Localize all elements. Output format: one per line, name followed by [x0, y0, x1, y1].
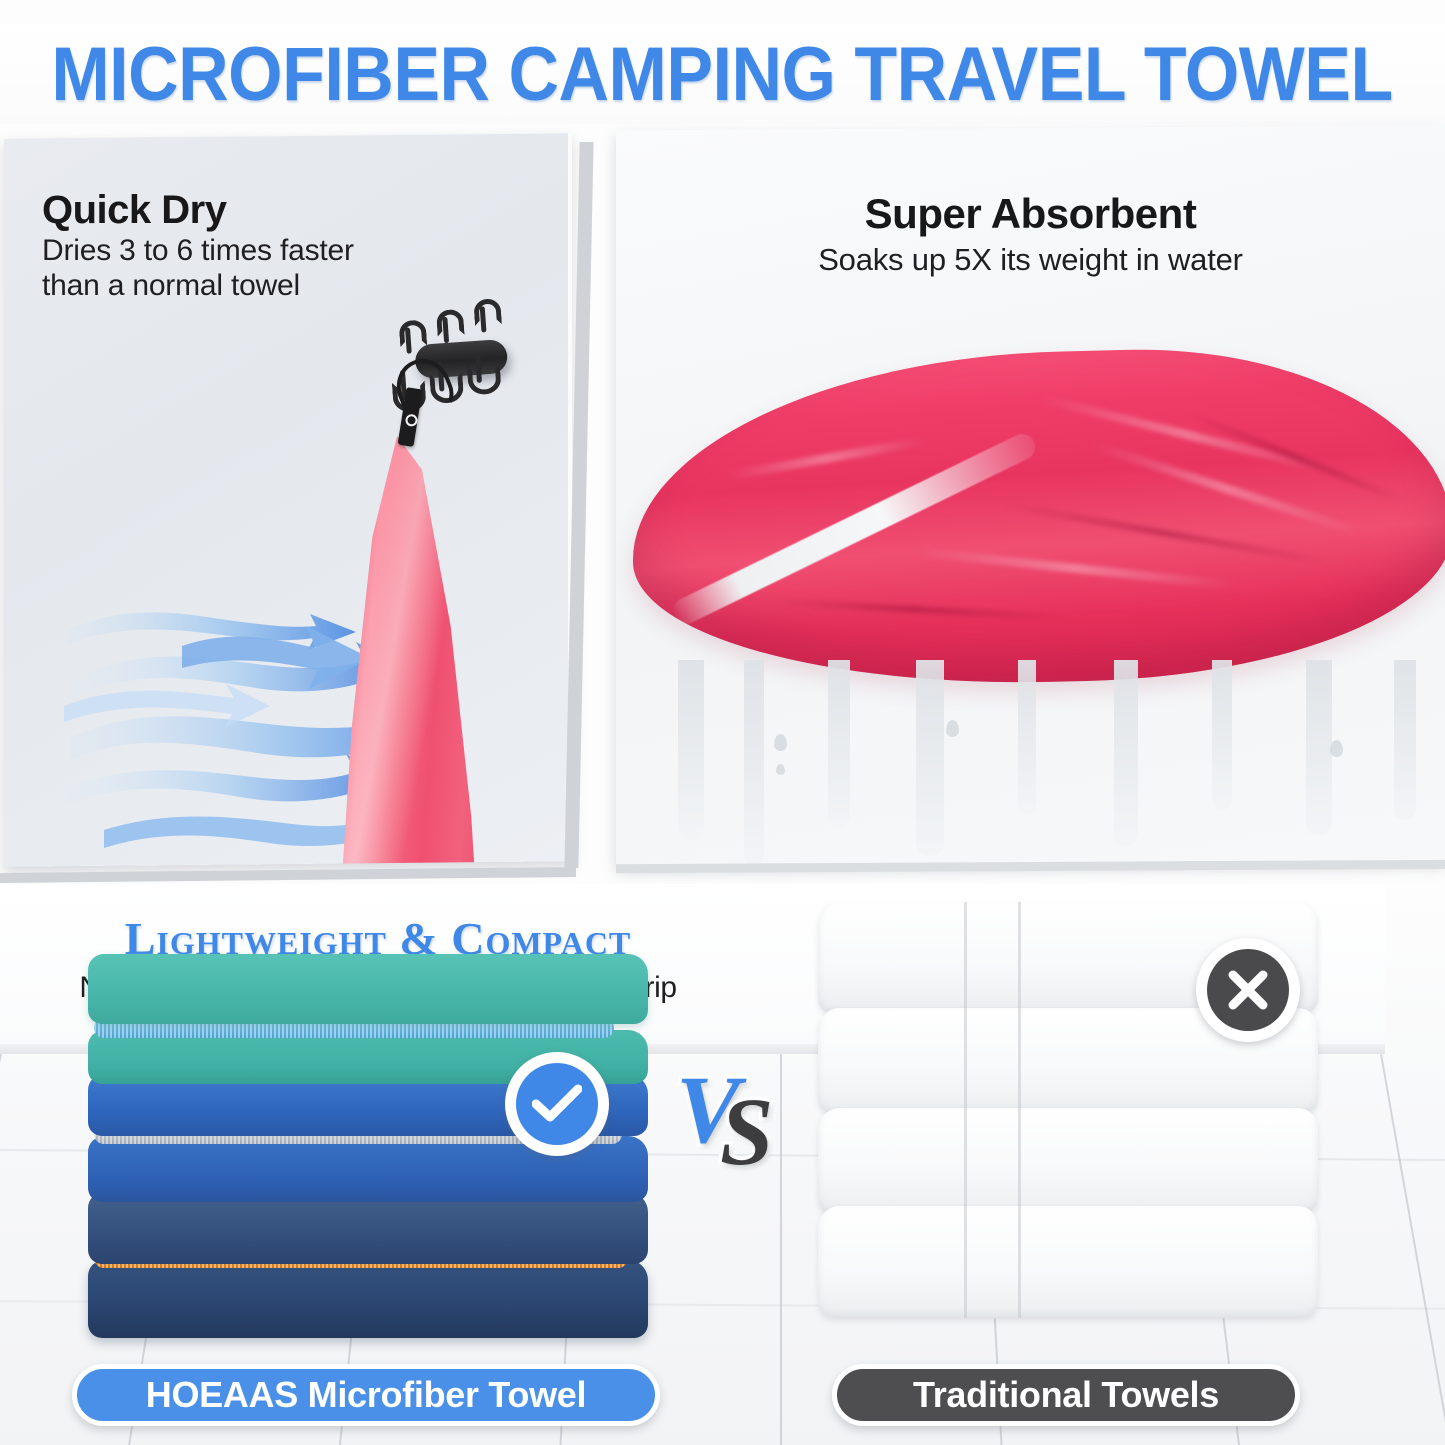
water-drip-icon: [616, 334, 1445, 864]
panel-left-base: [0, 867, 576, 883]
hoeaas-label-text: HOEAAS Microfiber Towel: [146, 1374, 586, 1416]
check-icon: [505, 1052, 609, 1156]
wall-hook-rack-icon: [372, 298, 551, 440]
hoeaas-label-pill: HOEAAS Microfiber Towel: [72, 1364, 660, 1426]
page-title-bar: MICROFIBER CAMPING TRAVEL TOWEL: [0, 24, 1445, 124]
traditional-label-text: Traditional Towels: [913, 1374, 1219, 1416]
quick-dry-line-1: Dries 3 to 6 times faster: [42, 233, 354, 268]
quick-dry-heading: Quick Dry: [42, 188, 354, 233]
cross-glyph: [1226, 968, 1270, 1012]
quick-dry-line-2: than a normal towel: [42, 268, 354, 303]
page-title: MICROFIBER CAMPING TRAVEL TOWEL: [52, 31, 1393, 118]
infographic-canvas: MICROFIBER CAMPING TRAVEL TOWEL: [0, 0, 1445, 1445]
white-towel: [818, 1206, 1318, 1318]
super-absorbent-text-block: Super Absorbent Soaks up 5X its weight i…: [616, 190, 1445, 279]
super-absorbent-subheading: Soaks up 5X its weight in water: [616, 242, 1445, 279]
dark-navy-towel: [88, 1260, 648, 1338]
checkmark-glyph: [532, 1084, 582, 1124]
white-towel: [818, 1108, 1318, 1214]
versus-badge: V S: [676, 1062, 796, 1192]
panel-super-absorbent: Super Absorbent Soaks up 5X its weight i…: [616, 125, 1445, 866]
quick-dry-text-block: Quick Dry Dries 3 to 6 times faster than…: [42, 188, 354, 304]
versus-s: S: [720, 1084, 773, 1180]
traditional-label-pill: Traditional Towels: [832, 1364, 1300, 1426]
feature-panels: Quick Dry Dries 3 to 6 times faster than…: [0, 128, 1445, 880]
teal-towel: [88, 954, 648, 1024]
x-icon: [1196, 938, 1300, 1042]
super-absorbent-heading: Super Absorbent: [616, 190, 1445, 238]
navy-towel: [88, 1192, 648, 1264]
panel-quick-dry: Quick Dry Dries 3 to 6 times faster than…: [4, 133, 572, 866]
